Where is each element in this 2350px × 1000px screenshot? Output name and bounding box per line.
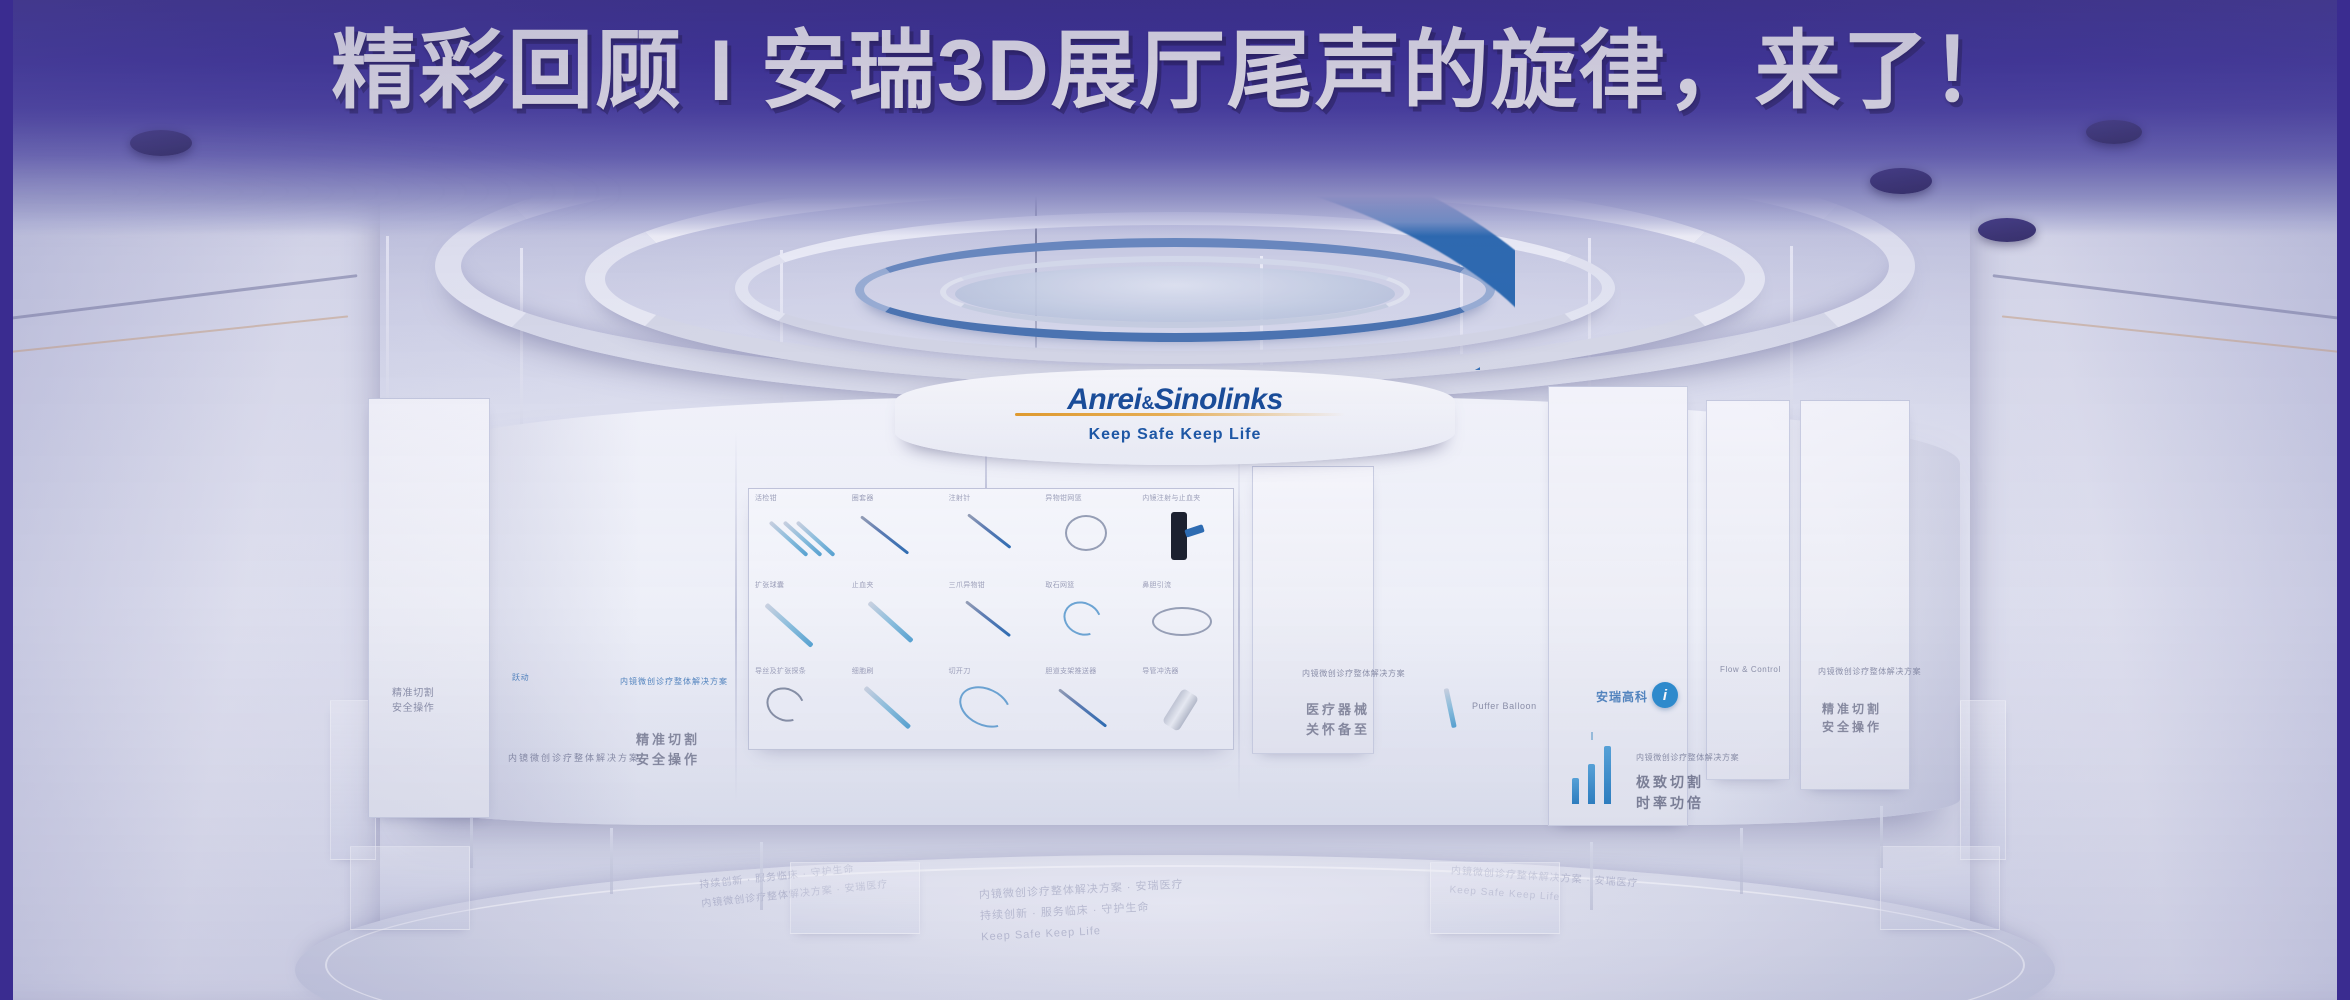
product-label: 止血夹 xyxy=(852,580,874,590)
product-label: 导管冲洗器 xyxy=(1142,666,1179,676)
product-cell: 胆道支架推送器 xyxy=(1039,662,1136,749)
product-cell: 导丝及扩张探条 xyxy=(749,662,846,749)
glass-guard-panel xyxy=(1430,862,1560,934)
product-label: 鼻胆引流 xyxy=(1142,580,1171,590)
product-label: 切开刀 xyxy=(949,666,971,676)
product-cell: 导管冲洗器 xyxy=(1136,662,1233,749)
caption-line-2: 安全操作 xyxy=(392,701,434,716)
chart-bar-tip xyxy=(1591,732,1593,740)
product-illustration xyxy=(1058,689,1107,728)
chart-bar xyxy=(1572,778,1579,804)
product-illustration xyxy=(1171,512,1186,561)
product-illustration xyxy=(1152,607,1212,636)
product-cell: 三爪异物钳 xyxy=(943,576,1040,663)
chart-bar xyxy=(1588,764,1595,804)
caption-line-2: 时率功倍 xyxy=(1636,793,1704,814)
product-cell: 内镜注射与止血夹 xyxy=(1136,489,1233,576)
header-sheen xyxy=(0,120,640,240)
railing-post xyxy=(1740,828,1743,894)
product-label: 胆道支架推送器 xyxy=(1045,666,1096,676)
caption-line-2: 安全操作 xyxy=(1822,718,1882,736)
railing-post xyxy=(1590,842,1593,910)
glass-guard-panel xyxy=(1960,700,2006,860)
mini-bar-chart xyxy=(1572,742,1611,804)
product-cell: 活检钳 xyxy=(749,489,846,576)
frame-border-right xyxy=(2337,0,2350,1000)
caption-wave: Flow & Control xyxy=(1720,664,1781,676)
product-cell: 止血夹 xyxy=(846,576,943,663)
product-cell: 圈套器 xyxy=(846,489,943,576)
wall-divider xyxy=(735,432,737,802)
product-label: 扩张球囊 xyxy=(755,580,784,590)
poster-stand-panda xyxy=(368,398,490,818)
frame-border-left xyxy=(0,0,13,1000)
caption-badger-big: 医疗器械 关怀备至 xyxy=(1306,700,1370,739)
product-label: 异物钳网篮 xyxy=(1045,493,1082,503)
glass-guard-panel xyxy=(790,862,920,934)
brand-tagline: Keep Safe Keep Life xyxy=(895,426,1455,444)
brand-name-part2: Sinolinks xyxy=(1154,383,1283,416)
product-illustration xyxy=(1057,595,1106,641)
product-illustration xyxy=(860,515,909,554)
product-illustration xyxy=(965,600,1011,637)
caption-fish-big: 精准切割 安全操作 xyxy=(1822,700,1882,736)
chart-bar xyxy=(1604,746,1611,804)
product-label: 三爪异物钳 xyxy=(949,580,986,590)
railing-post xyxy=(610,828,613,894)
product-grid-board: 活检钳 圈套器 注射针 异物钳网篮 内镜注射与止血夹 扩张球囊 止血夹 xyxy=(748,488,1234,750)
caption-text: 内镜微创诊疗整体解决方案 xyxy=(1302,669,1405,678)
product-cell: 切开刀 xyxy=(943,662,1040,749)
caption-line-1: 极致切割 xyxy=(1636,772,1704,793)
product-label: 注射针 xyxy=(949,493,971,503)
railing-post xyxy=(760,842,763,910)
wall-divider xyxy=(1238,432,1240,802)
caption-line-1: 精准切割 xyxy=(636,730,700,750)
product-illustration xyxy=(1162,688,1200,732)
product-label: 导丝及扩张探条 xyxy=(755,666,806,676)
caption-line-1: 医疗器械 xyxy=(1306,700,1370,720)
product-cell: 取石网篮 xyxy=(1039,576,1136,663)
glass-guard-panel xyxy=(1880,846,2000,930)
brand-ampersand: & xyxy=(1141,393,1154,413)
caption-chart-title: 极致切割 时率功倍 xyxy=(1636,772,1704,814)
product-illustration xyxy=(1065,515,1108,551)
caption-mid-left: 内镜微创诊疗整体解决方案 xyxy=(508,752,640,766)
ceiling-spotlight xyxy=(1870,168,1932,194)
product-illustration xyxy=(867,601,914,644)
ceiling-spotlight xyxy=(1978,218,2036,242)
blue-accent-arc-secondary xyxy=(1150,300,1480,370)
caption-badger: 内镜微创诊疗整体解决方案 xyxy=(1302,668,1405,680)
page-title: 精彩回顾 I 安瑞3D展厅尾声的旋律，来了！ xyxy=(0,26,2350,117)
glass-guard-panel xyxy=(350,846,470,930)
caption-balloon: Puffer Balloon xyxy=(1472,700,1537,714)
floor-printed-text: 内镜微创诊疗整体解决方案 · 安瑞医疗 持续创新 · 服务临床 · 守护生命 K… xyxy=(979,875,1187,948)
brand-name-part1: Anrei xyxy=(1067,383,1141,416)
product-label: 内镜注射与止血夹 xyxy=(1142,493,1200,503)
product-label: 细胞刷 xyxy=(852,666,874,676)
product-illustration xyxy=(953,679,1018,736)
product-cell: 扩张球囊 xyxy=(749,576,846,663)
caption-text: 安瑞高科 xyxy=(1596,690,1648,704)
caption-line-2: 安全操作 xyxy=(636,750,700,770)
product-cell: 注射针 xyxy=(943,489,1040,576)
caption-line-2: 关怀备至 xyxy=(1306,720,1370,740)
caption-line-1: 精准切割 xyxy=(1822,700,1882,718)
caption-chart-small: 内镜微创诊疗整体解决方案 xyxy=(1636,752,1739,764)
caption-text: 内镜微创诊疗整体解决方案 xyxy=(1636,753,1739,762)
product-label: 圈套器 xyxy=(852,493,874,503)
railing-post xyxy=(1880,806,1883,868)
caption-kangaroo: 跃动 xyxy=(512,672,529,684)
stand-caption-panda: 精准切割 安全操作 xyxy=(392,686,434,716)
product-cell: 鼻胆引流 xyxy=(1136,576,1233,663)
caption-frog: 内镜微创诊疗整体解决方案 xyxy=(620,676,728,688)
product-label: 活检钳 xyxy=(755,493,777,503)
caption-brand-cn: 安瑞高科 xyxy=(1596,688,1648,706)
caption-text: 内镜微创诊疗整体解决方案 xyxy=(1818,667,1921,676)
showroom-banner: Anrei&Sinolinks Keep Safe Keep Life Anre… xyxy=(0,0,2350,1000)
brand-logomark-icon: i xyxy=(1652,682,1678,708)
product-illustration xyxy=(967,514,1012,550)
product-illustration xyxy=(765,602,814,647)
caption-frog-big: 精准切割 安全操作 xyxy=(636,730,700,769)
product-cell: 细胞刷 xyxy=(846,662,943,749)
product-illustration xyxy=(863,685,911,729)
caption-text: 内镜微创诊疗整体解决方案 xyxy=(620,677,728,686)
ceiling-spotlight xyxy=(2086,120,2142,144)
caption-line-1: 精准切割 xyxy=(392,686,434,701)
caption-text: 跃动 xyxy=(512,673,529,682)
poster-stand-wave xyxy=(1706,400,1790,780)
caption-text: Flow & Control xyxy=(1720,665,1781,674)
ceiling-spotlight xyxy=(130,130,192,156)
caption-text: 内镜微创诊疗整体解决方案 xyxy=(508,753,640,763)
product-label: 取石网篮 xyxy=(1045,580,1074,590)
brand-swoosh xyxy=(1015,413,1345,416)
logomark-letter: i xyxy=(1663,687,1667,704)
product-cell: 异物钳网篮 xyxy=(1039,489,1136,576)
caption-fish: 内镜微创诊疗整体解决方案 xyxy=(1818,666,1921,678)
caption-text: Puffer Balloon xyxy=(1472,701,1537,711)
brand-logo: Anrei&Sinolinks Keep Safe Keep Life xyxy=(895,383,1455,444)
product-illustration xyxy=(761,682,810,728)
brand-wordmark: Anrei&Sinolinks xyxy=(895,383,1455,417)
